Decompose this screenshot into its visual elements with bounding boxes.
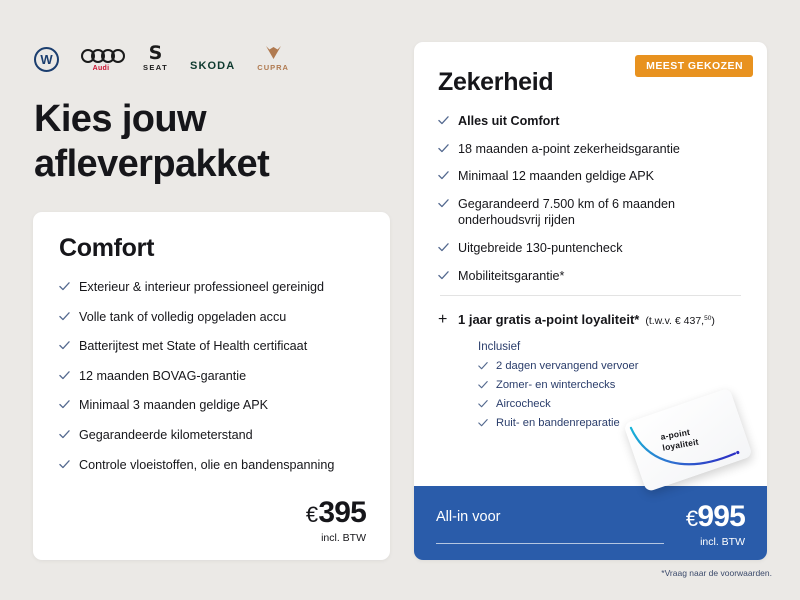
zekerheid-feature-list: Alles uit Comfort 18 maanden a-point zek… <box>438 113 743 284</box>
list-item: Uitgebreide 130-puntencheck <box>438 240 743 257</box>
audi-logo: Audi <box>81 38 121 72</box>
cupra-triangle-icon <box>265 45 282 62</box>
addon-row: + 1 jaar gratis a-point loyaliteit*(t.w.… <box>438 311 743 329</box>
inclusief-text: Aircocheck <box>496 398 551 410</box>
check-icon <box>59 459 70 470</box>
comfort-feature-list: Exterieur & interieur professioneel gere… <box>59 279 364 473</box>
check-icon <box>59 429 70 440</box>
cupra-wordmark: CUPRA <box>257 63 289 72</box>
list-item: Volle tank of volledig opgeladen accu <box>59 309 364 326</box>
check-icon <box>438 143 449 154</box>
promo-poster: W Audi S SEAT SKODA CUPRA Kies jouw afle… <box>0 0 800 600</box>
list-item: 2 dagen vervangend vervoer <box>478 360 743 372</box>
list-item: Controle vloeistoffen, olie en bandenspa… <box>59 457 364 474</box>
feature-text: Uitgebreide 130-puntencheck <box>458 240 623 257</box>
cupra-logo: CUPRA <box>257 38 289 72</box>
list-item: Mobiliteitsgarantie* <box>438 268 743 285</box>
check-icon <box>478 399 488 409</box>
list-item: Minimaal 3 maanden geldige APK <box>59 397 364 414</box>
comfort-price-note: incl. BTW <box>306 532 366 544</box>
check-icon <box>438 270 449 281</box>
check-icon <box>438 198 449 209</box>
list-item: Gegarandeerd 7.500 km of 6 maanden onder… <box>438 196 743 229</box>
addon-value: (t.w.v. € 437,50) <box>645 315 714 327</box>
plus-icon: + <box>438 312 449 328</box>
allin-underline <box>436 543 664 544</box>
feature-text: Exterieur & interieur professioneel gere… <box>79 279 324 296</box>
feature-text: Alles uit Comfort <box>458 113 559 130</box>
vw-roundel-icon: W <box>34 47 59 72</box>
feature-text: 18 maanden a-point zekerheidsgarantie <box>458 141 680 158</box>
volkswagen-logo: W <box>34 38 59 72</box>
section-divider <box>440 295 741 296</box>
feature-text: Controle vloeistoffen, olie en bandenspa… <box>79 457 334 474</box>
check-icon <box>59 281 70 292</box>
inclusief-text: Zomer- en winterchecks <box>496 379 615 391</box>
feature-text: 12 maanden BOVAG-garantie <box>79 368 246 385</box>
zekerheid-price-note: incl. BTW <box>686 536 745 548</box>
status-badge: MEEST GEKOZEN <box>635 55 753 77</box>
feature-text: Minimaal 3 maanden geldige APK <box>79 397 268 414</box>
list-item: 12 maanden BOVAG-garantie <box>59 368 364 385</box>
zekerheid-price: €995 <box>686 502 745 532</box>
currency-symbol: € <box>306 502 317 527</box>
list-item: Gegarandeerde kilometerstand <box>59 427 364 444</box>
list-item: Zomer- en winterchecks <box>478 379 743 391</box>
package-card-zekerheid[interactable]: MEEST GEKOZEN Zekerheid Alles uit Comfor… <box>414 42 767 560</box>
list-item: Minimaal 12 maanden geldige APK <box>438 168 743 185</box>
seat-logo: S SEAT <box>143 38 168 72</box>
check-icon <box>438 115 449 126</box>
list-item: Batterijtest met State of Health certifi… <box>59 338 364 355</box>
feature-text: Gegarandeerde kilometerstand <box>79 427 253 444</box>
check-icon <box>59 311 70 322</box>
seat-s-icon: S <box>149 45 163 62</box>
list-item: Alles uit Comfort <box>438 113 743 130</box>
list-item: 18 maanden a-point zekerheidsgarantie <box>438 141 743 158</box>
currency-symbol: € <box>686 506 697 531</box>
inclusief-text: Ruit- en bandenreparatie <box>496 417 620 429</box>
package-card-comfort[interactable]: Comfort Exterieur & interieur profession… <box>33 212 390 560</box>
check-icon <box>478 361 488 371</box>
check-icon <box>478 418 488 428</box>
comfort-title: Comfort <box>59 234 364 263</box>
comfort-price: €395 <box>306 498 366 528</box>
list-item: Exterieur & interieur professioneel gere… <box>59 279 364 296</box>
skoda-logo: SKODA <box>190 38 235 72</box>
check-icon <box>438 242 449 253</box>
price-amount: 395 <box>318 496 366 529</box>
feature-text: Batterijtest met State of Health certifi… <box>79 338 307 355</box>
check-icon <box>478 380 488 390</box>
feature-text: Mobiliteitsgarantie* <box>458 268 564 285</box>
check-icon <box>438 170 449 181</box>
check-icon <box>59 399 70 410</box>
check-icon <box>59 340 70 351</box>
seat-wordmark: SEAT <box>143 63 168 72</box>
feature-text: Volle tank of volledig opgeladen accu <box>79 309 286 326</box>
addon-value-suffix: ) <box>711 315 715 327</box>
footnote: *Vraag naar de voorwaarden. <box>661 568 772 578</box>
skoda-wordmark: SKODA <box>190 60 235 72</box>
addon-label: 1 jaar gratis a-point loyaliteit* <box>458 312 639 327</box>
check-icon <box>59 370 70 381</box>
audi-rings-icon <box>81 49 121 63</box>
comfort-price-block: €395 incl. BTW <box>306 498 366 544</box>
price-amount: 995 <box>697 500 745 533</box>
feature-text: Minimaal 12 maanden geldige APK <box>458 168 654 185</box>
audi-wordmark: Audi <box>93 65 110 72</box>
inclusief-text: 2 dagen vervangend vervoer <box>496 360 638 372</box>
inclusief-title: Inclusief <box>478 341 743 353</box>
addon-value-prefix: (t.w.v. € 437, <box>645 315 704 327</box>
brand-logo-strip: W Audi S SEAT SKODA CUPRA <box>34 38 289 72</box>
allin-label: All-in voor <box>436 509 500 525</box>
page-title: Kies jouw afleverpakket <box>34 97 364 187</box>
feature-text: Gegarandeerd 7.500 km of 6 maanden onder… <box>458 196 743 229</box>
allin-price-bar: All-in voor €995 incl. BTW <box>414 486 767 560</box>
